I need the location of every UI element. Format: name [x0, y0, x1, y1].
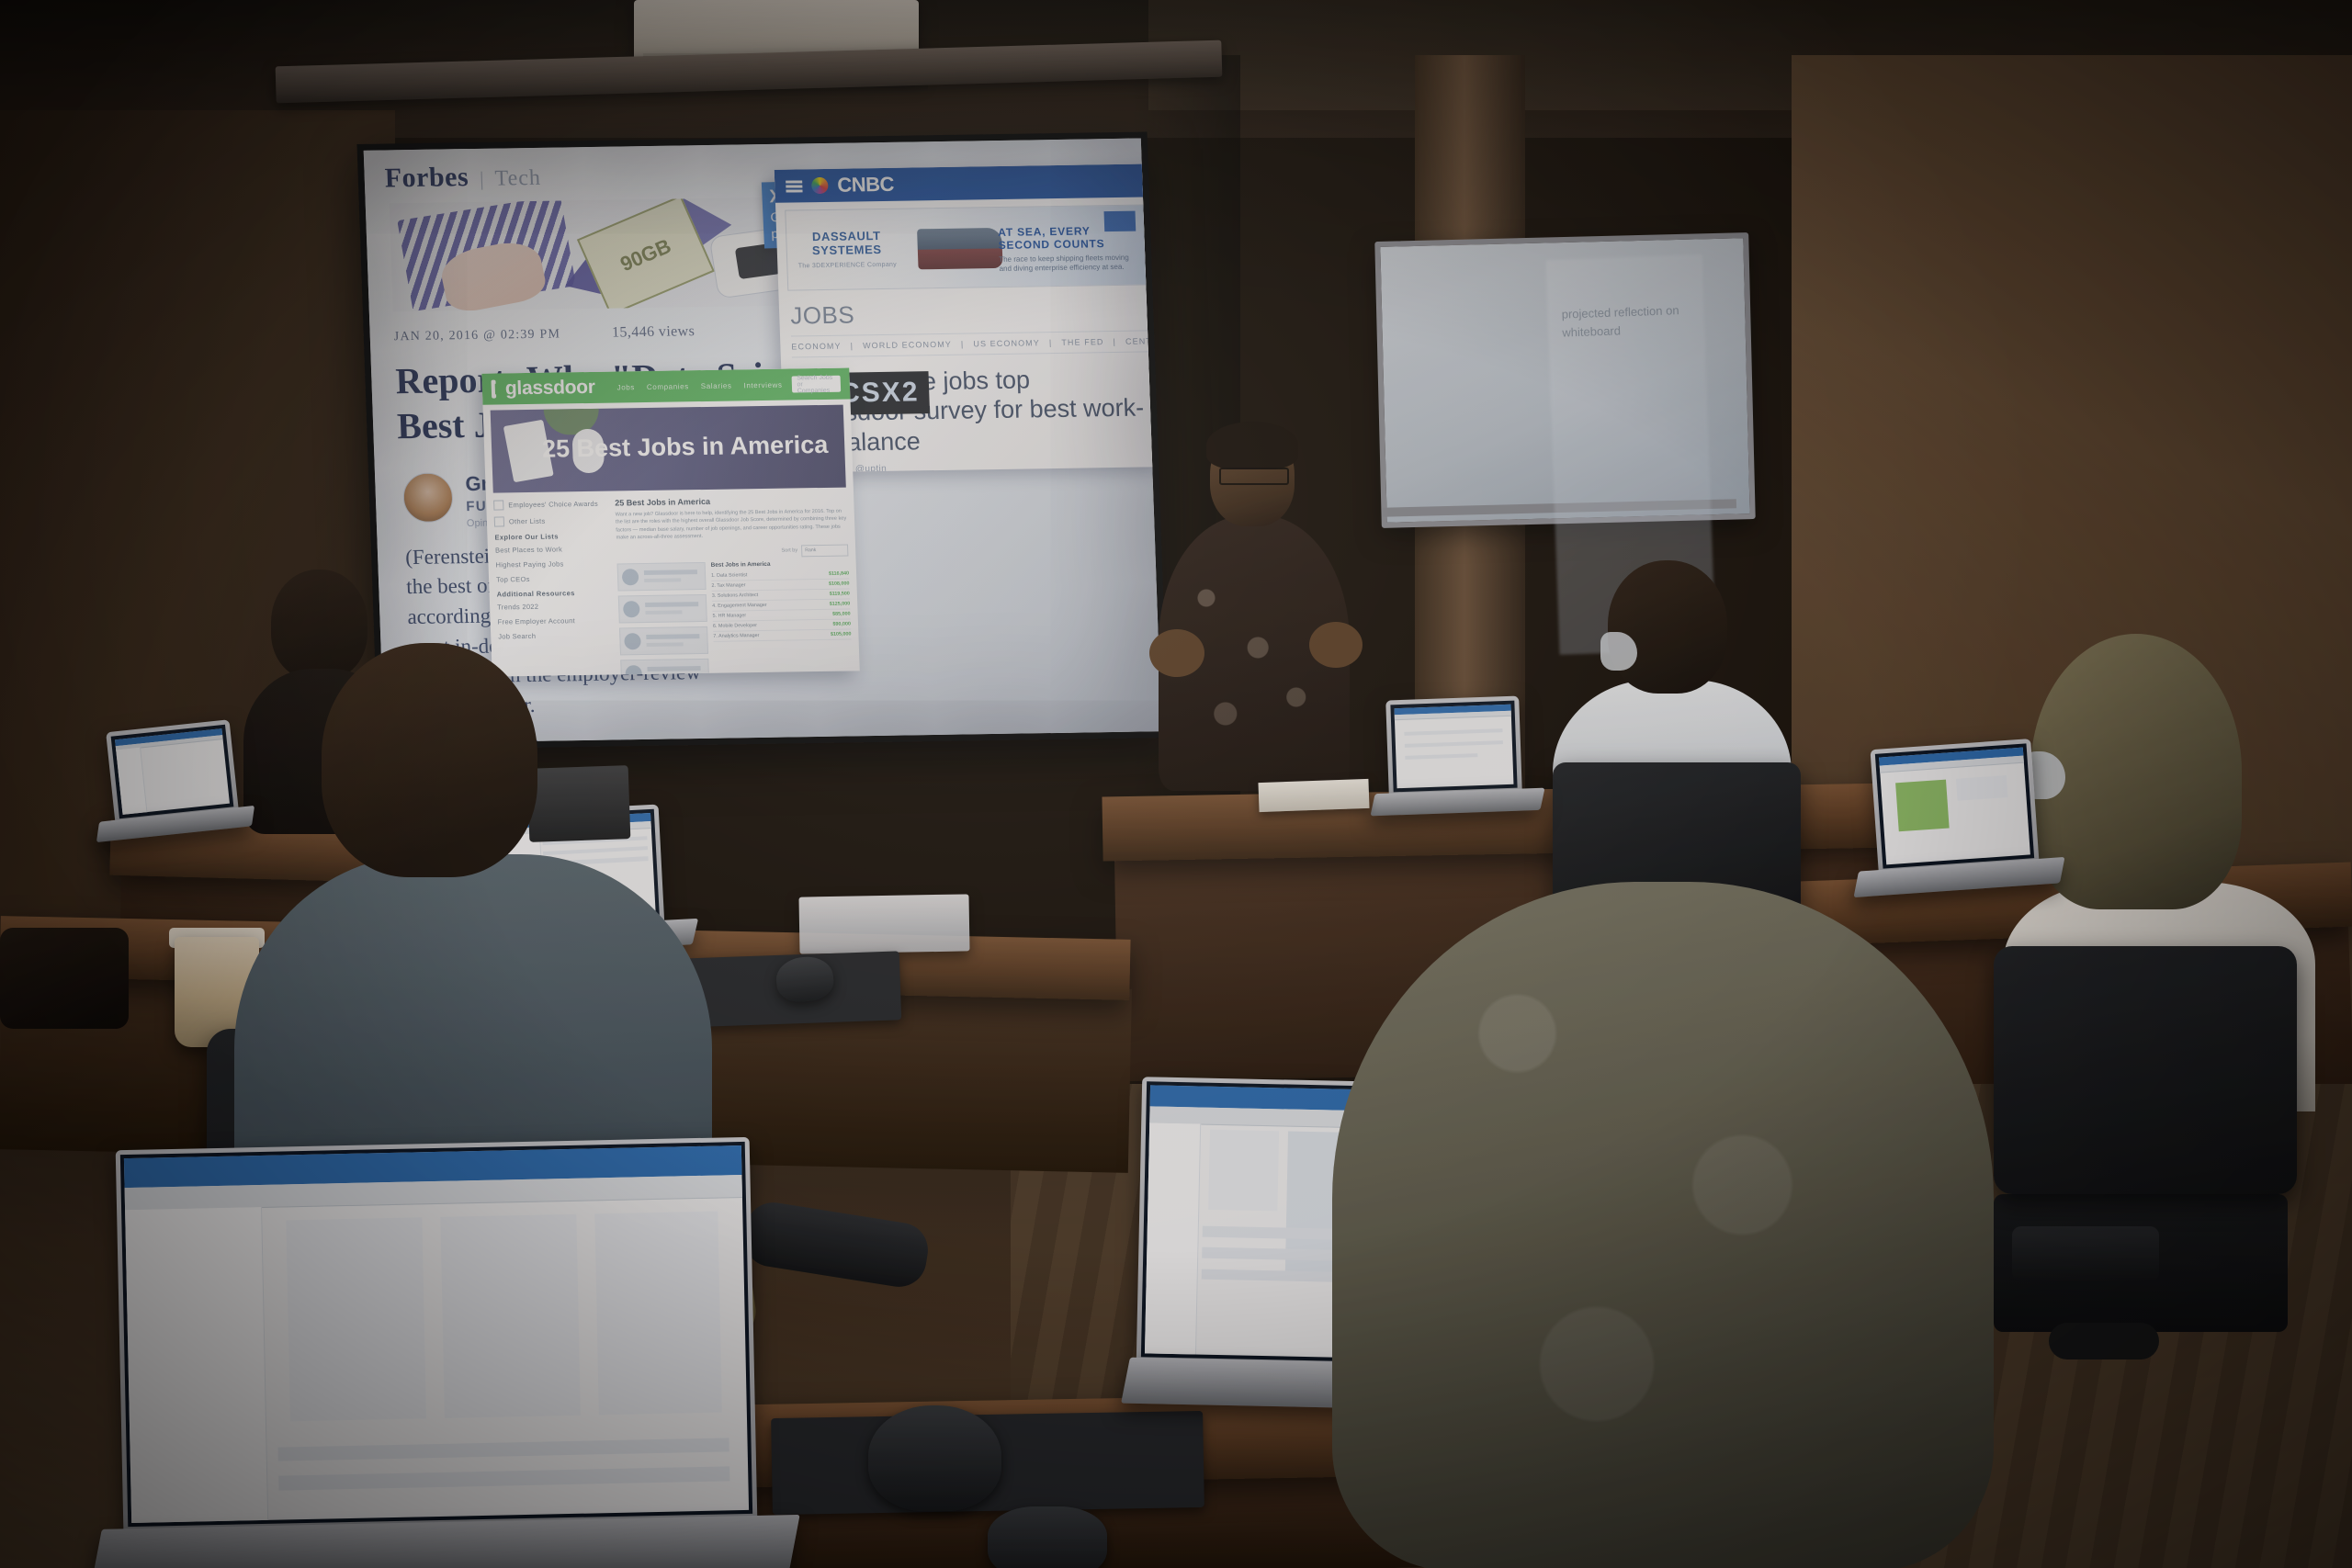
cnbc-nav-divider: | — [1049, 338, 1053, 347]
glassdoor-main-heading: 25 Best Jobs in America — [615, 495, 846, 508]
ad-copy-block: AT SEA, EVERY SECOND COUNTS The race to … — [998, 224, 1137, 275]
peacock-logo-icon — [811, 177, 829, 194]
article-date: JAN 20, 2016 @ 02:39 PM — [394, 327, 561, 344]
glasses-icon — [1219, 468, 1289, 485]
job-title-bar — [646, 634, 699, 639]
cnbc-nav-divider: | — [1113, 337, 1116, 346]
attendee-foreground-hijab — [1332, 882, 1994, 1568]
computer-mouse[interactable] — [868, 1405, 1001, 1511]
glassdoor-header-bar: glassdoor Jobs Companies Salaries Interv… — [481, 368, 850, 405]
sidebar-item-other-lists[interactable]: Other Lists — [494, 515, 606, 527]
ranking-salary: $90,000 — [832, 621, 851, 626]
additional-link-label: Trends 2022 — [497, 603, 538, 612]
cnbc-banner-ad[interactable]: DASSAULT SYSTEMES The 3DEXPERIENCE Compa… — [785, 204, 1148, 290]
laptop-lid — [1871, 739, 2040, 874]
office-chair — [1994, 946, 2297, 1194]
glassdoor-browser-window[interactable]: glassdoor Jobs Companies Salaries Interv… — [481, 368, 860, 677]
cnbc-nav-the-fed[interactable]: THE FED — [1061, 337, 1104, 347]
job-title-bar — [645, 602, 698, 607]
ranking-job: 1. Data Scientist — [711, 572, 747, 579]
glassdoor-nav-salaries[interactable]: Salaries — [701, 381, 732, 390]
sidebar-item-label: Employees' Choice Awards — [508, 500, 598, 510]
right-hand — [1309, 622, 1363, 668]
forbes-section-label: Tech — [494, 166, 541, 192]
chair-wheel — [2049, 1323, 2159, 1359]
patterned-hijab — [1332, 882, 1994, 1568]
ranking-row[interactable]: 7. Analytics Manager $105,000 — [713, 629, 851, 641]
ranking-job: 3. Solutions Architect — [712, 592, 759, 599]
ad-brand-block: DASSAULT SYSTEMES The 3DEXPERIENCE Compa… — [786, 209, 908, 290]
sidebar-link-top-ceos[interactable]: Top CEOs — [496, 574, 608, 584]
laptop-presenter-desk[interactable] — [1387, 698, 1521, 795]
ranking-salary: $85,000 — [832, 611, 851, 616]
left-hand — [1149, 629, 1204, 677]
author-avatar — [402, 472, 454, 523]
ranking-job: 7. Analytics Manager — [713, 633, 759, 639]
laptop-lid — [116, 1137, 758, 1531]
ranking-heading: Best Jobs in America — [711, 559, 849, 568]
hamburger-menu-icon[interactable] — [786, 180, 802, 192]
job-card[interactable] — [617, 562, 707, 591]
sidebar-item-employees-choice[interactable]: Employees' Choice Awards — [493, 499, 605, 511]
content-block — [594, 1212, 722, 1415]
cnbc-logo: CNBC — [837, 173, 894, 197]
glassdoor-logo: glassdoor — [505, 377, 595, 400]
cnbc-section-title: JOBS — [790, 296, 1159, 330]
laptop-foreground-left[interactable] — [119, 1144, 753, 1525]
content-row — [278, 1438, 729, 1461]
cnbc-nav-divider: | — [961, 340, 965, 349]
content-row — [1405, 740, 1503, 747]
glassdoor-nav-interviews[interactable]: Interviews — [743, 380, 782, 389]
laptop-screen[interactable] — [111, 725, 234, 819]
name-plate-holder — [798, 894, 969, 953]
ranking-job: 2. Tax Manager — [711, 582, 745, 589]
sidebar-item-label: Other Lists — [509, 517, 546, 526]
content-row — [1405, 753, 1477, 759]
laptop-screen[interactable] — [120, 1142, 752, 1527]
job-title-bar — [644, 570, 697, 575]
job-card[interactable] — [618, 594, 707, 623]
checkbox-icon[interactable] — [493, 500, 503, 510]
additional-link-job-search[interactable]: Job Search — [498, 631, 610, 641]
additional-link-employer-account[interactable]: Free Employer Account — [498, 616, 610, 626]
sidebar-link-label: Top CEOs — [496, 575, 530, 584]
ad-brand-name: DASSAULT SYSTEMES — [786, 230, 907, 259]
content-block — [1895, 780, 1949, 831]
projection-reflection-text: projected reflection on whiteboard — [1561, 300, 1700, 341]
window-sidebar — [116, 748, 147, 815]
job-ranking-column: Best Jobs in America 1. Data Scientist $… — [711, 559, 854, 677]
laptop-lid — [106, 719, 239, 824]
sidebar-link-label: Highest Paying Jobs — [495, 559, 563, 569]
cnbc-nav-us-economy[interactable]: US ECONOMY — [973, 338, 1040, 348]
ranking-job: 6. Mobile Developer — [713, 623, 757, 629]
ranking-salary: $116,840 — [829, 570, 849, 576]
job-meta-bar — [645, 610, 682, 615]
cnbc-nav-divider: | — [850, 341, 854, 350]
content-block — [440, 1214, 580, 1417]
forbes-logo: Forbes — [384, 162, 469, 194]
checkbox-icon[interactable] — [494, 516, 504, 526]
bag — [0, 928, 129, 1029]
ranking-salary: $105,000 — [831, 631, 852, 637]
screen-window-mock — [115, 728, 230, 815]
glassdoor-sort-row[interactable]: Sort by Rank — [616, 544, 848, 559]
content-row — [278, 1467, 729, 1491]
laptop-screen[interactable] — [1390, 701, 1517, 793]
sidebar-link-highest-paying[interactable]: Highest Paying Jobs — [495, 559, 607, 570]
glassdoor-main-paragraph: Want a new job? Glassdoor is here to hel… — [616, 508, 848, 543]
hair — [1206, 422, 1298, 469]
forbes-separator: | — [480, 167, 484, 191]
job-meta-bar — [644, 578, 681, 582]
head — [322, 643, 537, 877]
screen-window-mock — [124, 1145, 749, 1523]
glassdoor-hero-banner: 25 Best Jobs in America — [491, 405, 846, 493]
cnbc-nav-economy[interactable]: ECONOMY — [791, 342, 842, 352]
papers-on-desk — [1258, 779, 1369, 812]
sidebar-heading: Explore Our Lists — [494, 532, 606, 542]
laptop-right[interactable] — [1874, 744, 2035, 868]
classroom-photo-scene: Forbes | Tech 90GB — [0, 0, 2352, 1568]
window-sidebar — [125, 1207, 268, 1523]
additional-link-label: Job Search — [498, 632, 536, 641]
ranking-salary: $119,500 — [830, 591, 850, 596]
sort-label: Sort by — [781, 547, 797, 553]
glassdoor-nav-jobs[interactable]: Jobs — [616, 383, 635, 391]
cnbc-header-bar: CNBC — [775, 164, 1154, 202]
cargo-ship-graphic — [917, 228, 1003, 269]
job-thumbnail — [622, 569, 639, 585]
sort-select[interactable]: Rank — [801, 544, 848, 557]
ranking-job: 4. Engagement Manager — [712, 602, 767, 608]
window-sidebar — [1145, 1122, 1202, 1354]
ranking-salary: $125,000 — [830, 601, 851, 606]
cnbc-subnav[interactable]: ECONOMY | WORLD ECONOMY | US ECONOMY | T… — [791, 330, 1148, 357]
screen-window-mock — [1879, 748, 2030, 865]
glassdoor-hero-title: 25 Best Jobs in America — [541, 431, 828, 464]
computer-mouse[interactable] — [988, 1506, 1107, 1568]
presenter — [1153, 427, 1355, 795]
head — [1608, 560, 1727, 694]
laptop-screen[interactable] — [1875, 743, 2034, 868]
glassdoor-nav[interactable]: Jobs Companies Salaries Interviews — [616, 380, 782, 391]
job-thumbnail — [623, 601, 640, 617]
glassdoor-nav-companies[interactable]: Companies — [647, 382, 689, 391]
additional-link-label: Free Employer Account — [498, 616, 576, 626]
glassdoor-logo-icon — [492, 380, 497, 399]
ranking-job: 5. HR Manager — [713, 613, 747, 619]
face-mask — [1600, 632, 1637, 671]
article-views: 15,446 views — [612, 323, 695, 341]
additional-resources-heading: Additional Resources — [496, 589, 608, 599]
screen-window-mock — [1395, 705, 1514, 788]
sidebar-link-best-places[interactable]: Best Places to Work — [495, 545, 607, 555]
ranking-salary: $108,000 — [829, 581, 850, 586]
cnbc-nav-world-economy[interactable]: WORLD ECONOMY — [863, 340, 952, 351]
shoe — [2012, 1226, 2159, 1281]
content-block — [286, 1218, 425, 1421]
laptop-lid — [1385, 696, 1522, 797]
ad-brand-tagline: The 3DEXPERIENCE Company — [798, 262, 897, 270]
glassdoor-search-input[interactable]: Search Jobs or Companies — [791, 376, 841, 393]
content-block — [1208, 1129, 1279, 1211]
ad-copy-body: The race to keep shipping fleets moving … — [999, 254, 1137, 275]
sidebar-link-label: Best Places to Work — [495, 545, 562, 554]
content-row — [1405, 728, 1503, 735]
content-block — [1956, 775, 2007, 800]
laptop-far-left[interactable] — [110, 726, 234, 818]
ad-copy-headline: AT SEA, EVERY SECOND COUNTS — [998, 224, 1136, 252]
additional-link-trends[interactable]: Trends 2022 — [497, 602, 609, 612]
